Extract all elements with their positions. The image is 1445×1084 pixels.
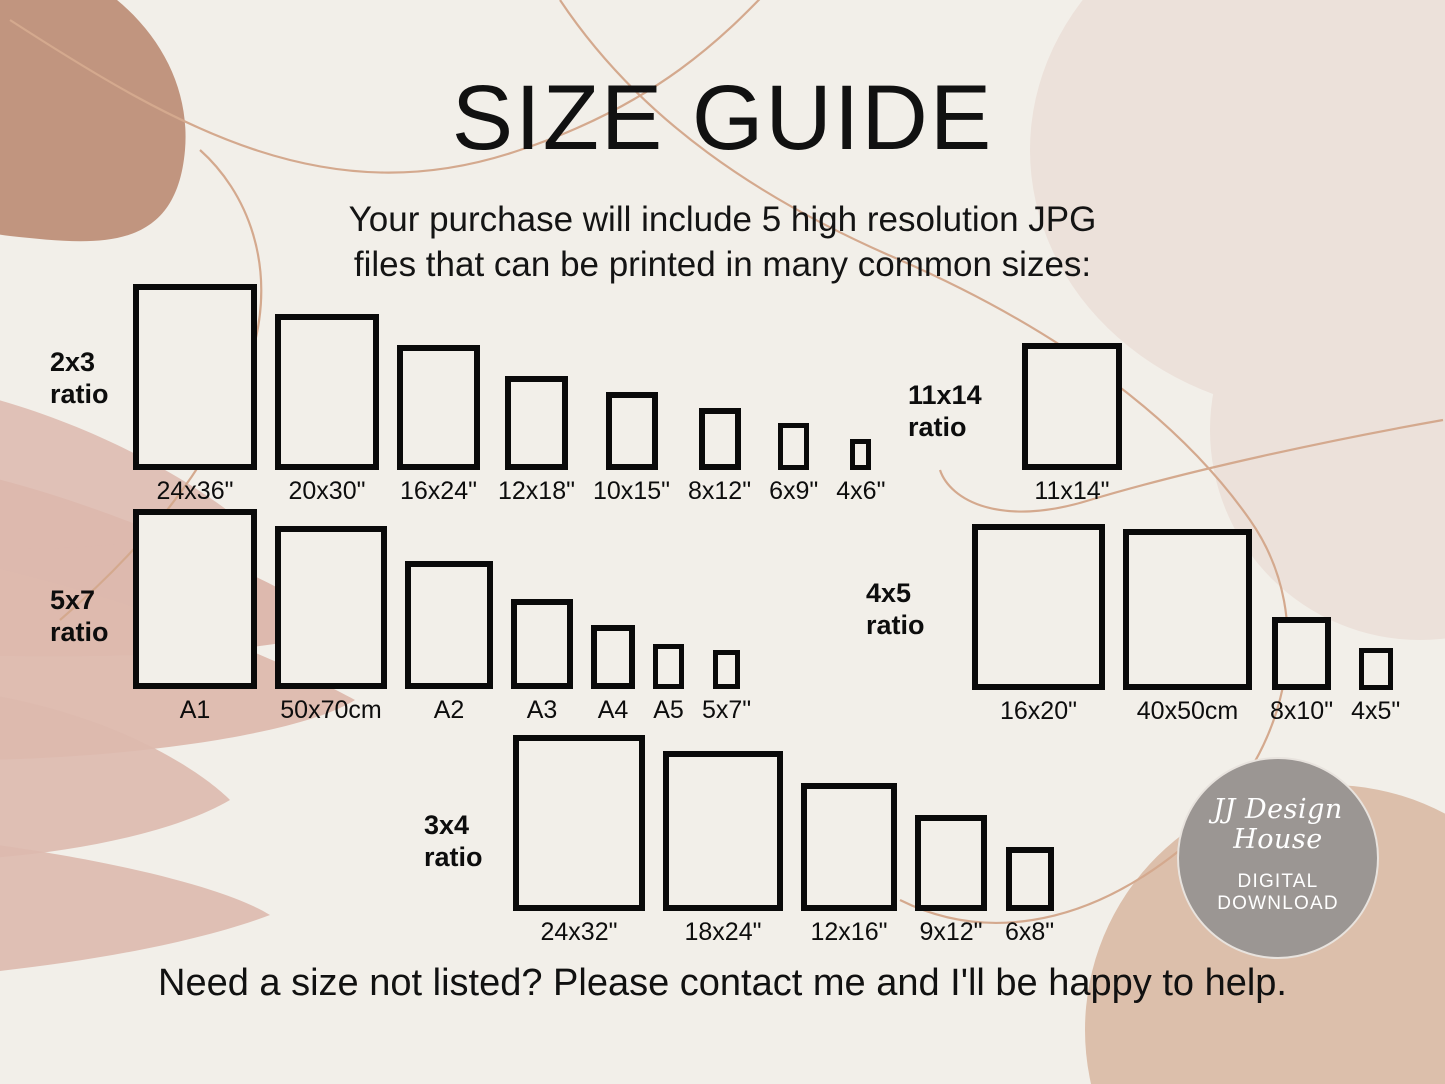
ratio-11x14-label: 11x14ratio xyxy=(908,380,982,444)
ratio-4x5-label-line-2: ratio xyxy=(866,610,925,642)
ratio-2x3-label-line-2: ratio xyxy=(50,379,109,411)
frame-preview-box xyxy=(275,526,387,689)
frame-preview-box xyxy=(505,376,568,470)
frame-cell: 20x30" xyxy=(266,314,388,506)
frame-size-label: A5 xyxy=(653,696,684,725)
frame-cell: 4x5" xyxy=(1342,648,1409,726)
ratio-11x14-frames: 11x14" xyxy=(1013,343,1131,506)
frame-size-label: A4 xyxy=(598,696,629,725)
frame-cell: 5x7" xyxy=(693,650,760,725)
subtitle-line-1: Your purchase will include 5 high resolu… xyxy=(0,198,1445,243)
brand-badge: JJ Design House DIGITAL DOWNLOAD xyxy=(1177,757,1379,959)
frame-cell: 12x16" xyxy=(792,783,906,947)
frame-size-label: 4x5" xyxy=(1351,697,1400,726)
badge-script-line-1: JJ Design xyxy=(1213,795,1343,825)
ratio-5x7-frames: A150x70cmA2A3A4A55x7" xyxy=(124,509,760,725)
frame-preview-box xyxy=(778,423,809,470)
frame-preview-box xyxy=(850,439,871,470)
ratio-11x14-label-line-1: 11x14 xyxy=(908,380,982,412)
size-guide-canvas: SIZE GUIDE Your purchase will include 5 … xyxy=(0,0,1445,1084)
frame-cell: A2 xyxy=(396,561,502,725)
badge-script-line-2: House xyxy=(1213,825,1343,855)
frame-cell: A1 xyxy=(124,509,266,725)
frame-preview-box xyxy=(133,284,257,470)
guide-content: SIZE GUIDE Your purchase will include 5 … xyxy=(0,0,1445,1084)
frame-preview-box xyxy=(591,625,635,689)
frame-size-label: 24x36" xyxy=(157,477,234,506)
ratio-4x5-frames: 16x20"40x50cm8x10"4x5" xyxy=(963,524,1409,726)
frame-size-label: 5x7" xyxy=(702,696,751,725)
ratio-3x4-label-line-2: ratio xyxy=(424,842,483,874)
subtitle-line-2: files that can be printed in many common… xyxy=(0,243,1445,288)
ratio-3x4-frames: 24x32"18x24"12x16"9x12"6x8" xyxy=(504,735,1063,947)
frame-size-label: 50x70cm xyxy=(280,696,381,725)
frame-preview-box xyxy=(405,561,493,689)
frame-preview-box xyxy=(972,524,1105,690)
frame-cell: 16x24" xyxy=(388,345,489,506)
frame-cell: 9x12" xyxy=(906,815,996,947)
page-title: SIZE GUIDE xyxy=(0,72,1445,164)
frame-size-label: A2 xyxy=(434,696,465,725)
frame-size-label: A3 xyxy=(527,696,558,725)
ratio-2x3-label-line-1: 2x3 xyxy=(50,347,109,379)
frame-size-label: 6x9" xyxy=(769,477,818,506)
frame-size-label: 16x24" xyxy=(400,477,477,506)
frame-size-label: 9x12" xyxy=(919,918,982,947)
subtitle: Your purchase will include 5 high resolu… xyxy=(0,198,1445,288)
frame-preview-box xyxy=(915,815,987,911)
badge-script-text: JJ Design House xyxy=(1213,795,1343,855)
frame-size-label: 8x10" xyxy=(1270,697,1333,726)
frame-cell: A4 xyxy=(582,625,644,725)
frame-cell: 50x70cm xyxy=(266,526,396,725)
frame-preview-box xyxy=(1006,847,1054,911)
frame-cell: 4x6" xyxy=(827,439,894,506)
frame-cell: 16x20" xyxy=(963,524,1114,726)
badge-sub-line-2: DOWNLOAD xyxy=(1217,893,1339,915)
frame-size-label: 6x8" xyxy=(1005,918,1054,947)
frame-preview-box xyxy=(1123,529,1252,690)
frame-size-label: 12x16" xyxy=(811,918,888,947)
ratio-4x5-label: 4x5ratio xyxy=(866,578,925,642)
footer-note: Need a size not listed? Please contact m… xyxy=(0,962,1445,1005)
ratio-5x7-label: 5x7ratio xyxy=(50,585,109,649)
ratio-5x7-label-line-2: ratio xyxy=(50,617,109,649)
frame-cell: 12x18" xyxy=(489,376,584,506)
frame-size-label: 20x30" xyxy=(289,477,366,506)
frame-size-label: 12x18" xyxy=(498,477,575,506)
frame-size-label: 16x20" xyxy=(1000,697,1077,726)
ratio-11x14-label-line-2: ratio xyxy=(908,412,982,444)
frame-preview-box xyxy=(801,783,897,911)
frame-preview-box xyxy=(1359,648,1393,690)
frame-cell: 6x9" xyxy=(760,423,827,506)
badge-subtext: DIGITAL DOWNLOAD xyxy=(1217,871,1339,915)
frame-cell: 18x24" xyxy=(654,751,792,947)
frame-size-label: 4x6" xyxy=(836,477,885,506)
frame-preview-box xyxy=(275,314,379,470)
frame-cell: A3 xyxy=(502,599,582,725)
frame-preview-box xyxy=(699,408,741,470)
frame-preview-box xyxy=(511,599,573,689)
frame-preview-box xyxy=(397,345,480,470)
frame-cell: 6x8" xyxy=(996,847,1063,947)
frame-preview-box xyxy=(663,751,783,911)
frame-cell: 8x12" xyxy=(679,408,760,506)
frame-preview-box xyxy=(1022,343,1122,470)
frame-size-label: 24x32" xyxy=(541,918,618,947)
frame-preview-box xyxy=(713,650,740,689)
frame-cell: 40x50cm xyxy=(1114,529,1261,726)
ratio-3x4-label: 3x4ratio xyxy=(424,810,483,874)
ratio-2x3-label: 2x3ratio xyxy=(50,347,109,411)
frame-preview-box xyxy=(653,644,684,689)
frame-cell: 24x36" xyxy=(124,284,266,506)
frame-size-label: 10x15" xyxy=(593,477,670,506)
frame-cell: 11x14" xyxy=(1013,343,1131,506)
ratio-3x4-label-line-1: 3x4 xyxy=(424,810,483,842)
ratio-5x7-label-line-1: 5x7 xyxy=(50,585,109,617)
frame-size-label: 18x24" xyxy=(685,918,762,947)
badge-sub-line-1: DIGITAL xyxy=(1217,871,1339,893)
frame-size-label: A1 xyxy=(180,696,211,725)
frame-preview-box xyxy=(606,392,658,470)
ratio-4x5-label-line-1: 4x5 xyxy=(866,578,925,610)
ratio-2x3-frames: 24x36"20x30"16x24"12x18"10x15"8x12"6x9"4… xyxy=(124,284,894,506)
frame-preview-box xyxy=(513,735,645,911)
frame-cell: 24x32" xyxy=(504,735,654,947)
frame-preview-box xyxy=(133,509,257,689)
frame-size-label: 40x50cm xyxy=(1137,697,1238,726)
frame-cell: A5 xyxy=(644,644,693,725)
frame-size-label: 8x12" xyxy=(688,477,751,506)
frame-cell: 8x10" xyxy=(1261,617,1342,726)
frame-preview-box xyxy=(1272,617,1331,690)
frame-cell: 10x15" xyxy=(584,392,679,506)
frame-size-label: 11x14" xyxy=(1034,477,1109,506)
